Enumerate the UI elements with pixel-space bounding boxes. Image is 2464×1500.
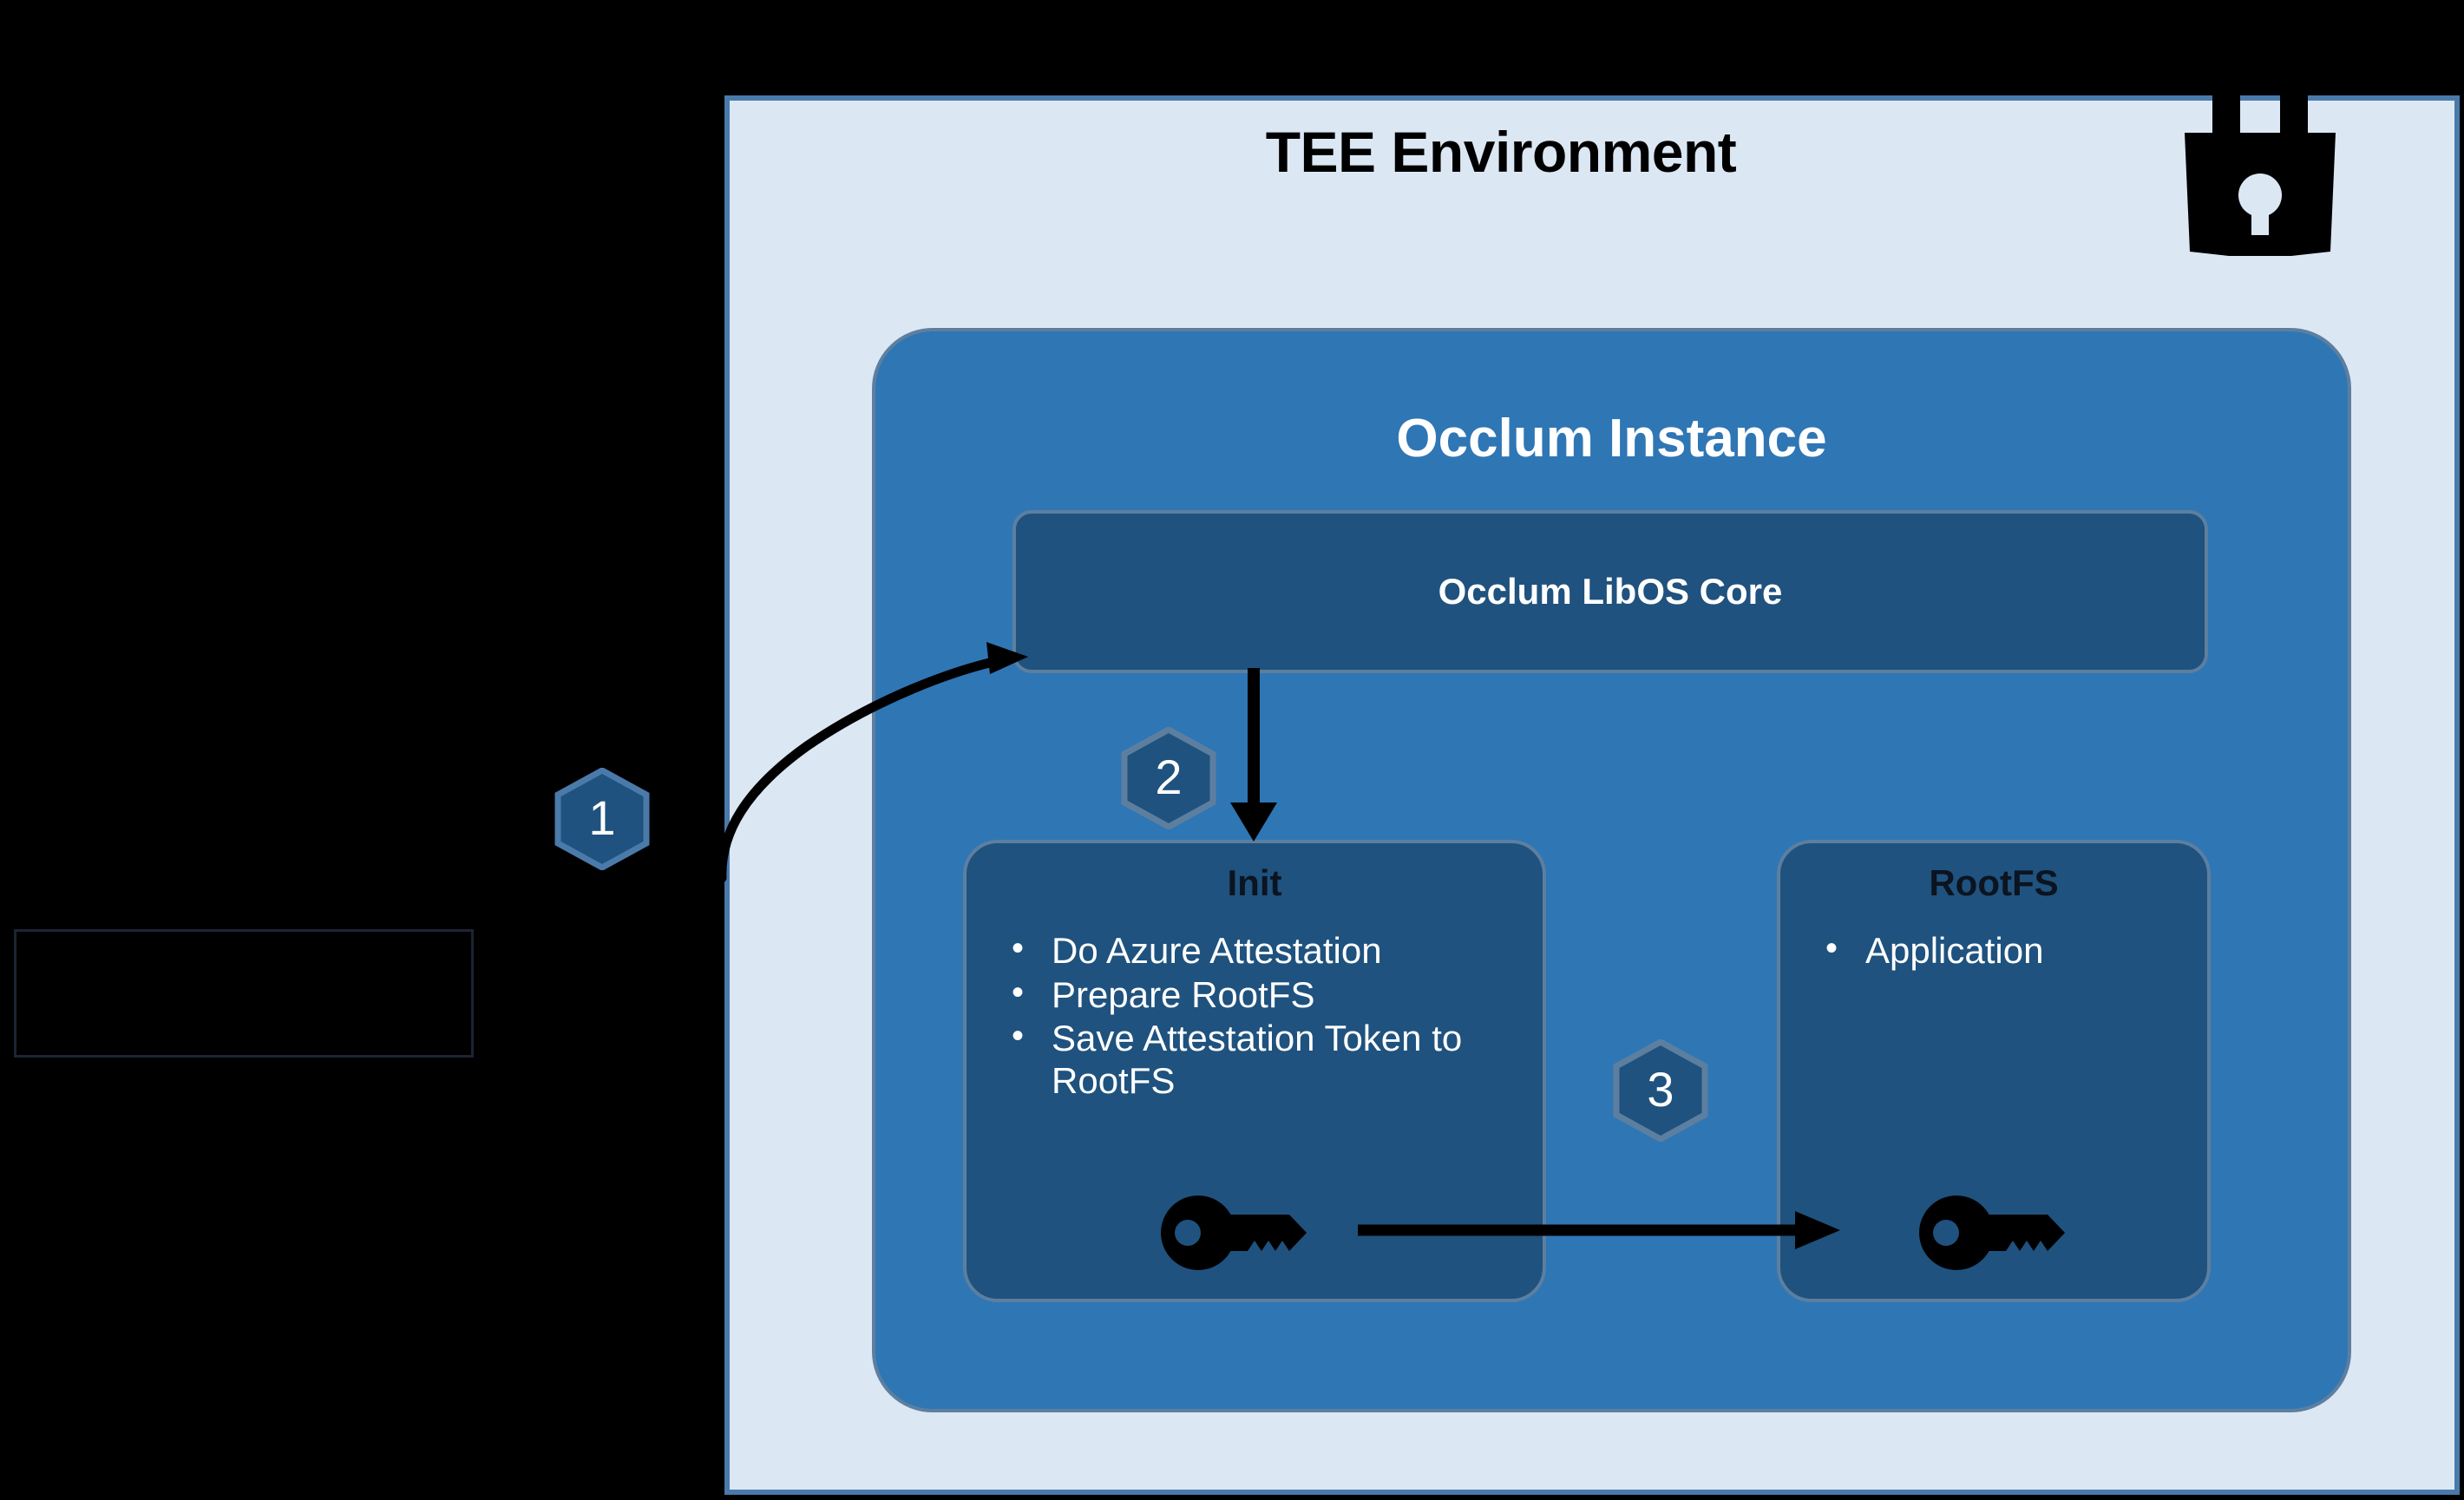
- key-icon: [1161, 1195, 1310, 1270]
- step-badge-3: 3: [1609, 1039, 1712, 1142]
- occlum-instance-title: Occlum Instance: [872, 408, 2351, 469]
- list-item: Prepare RootFS: [1003, 974, 1525, 1017]
- step-badge-3-number: 3: [1609, 1039, 1712, 1142]
- list-item: Do Azure Attestation: [1003, 930, 1525, 973]
- rootfs-bullet-list: Application: [1817, 930, 2190, 974]
- occlum-libos-core-label: Occlum LibOS Core: [1438, 571, 1783, 612]
- key-transfer-arrow: [1358, 1204, 1844, 1256]
- diagram-canvas: TEE Environment Occlum Instance Occlum L…: [0, 0, 2464, 1500]
- rootfs-title: RootFS: [1780, 862, 2207, 904]
- step-badge-2: 2: [1117, 727, 1220, 829]
- padlock-icon: [2160, 48, 2360, 256]
- key-icon: [1919, 1195, 2068, 1270]
- step-badge-2-number: 2: [1117, 727, 1220, 829]
- tee-environment-title: TEE Environment: [724, 119, 2277, 185]
- step-badge-1: 1: [551, 768, 653, 870]
- occlum-libos-core-box: Occlum LibOS Core: [1012, 510, 2208, 673]
- list-item: Save Attestation Token to RootFS: [1003, 1018, 1525, 1102]
- curved-arrow-to-libos: [694, 573, 1058, 885]
- list-item: Application: [1817, 930, 2190, 973]
- down-arrow-libos-to-init: [1223, 668, 1284, 846]
- init-bullet-list: Do Azure Attestation Prepare RootFS Save…: [1003, 930, 1525, 1104]
- step-badge-1-number: 1: [551, 768, 653, 870]
- empty-rectangle: [14, 929, 474, 1058]
